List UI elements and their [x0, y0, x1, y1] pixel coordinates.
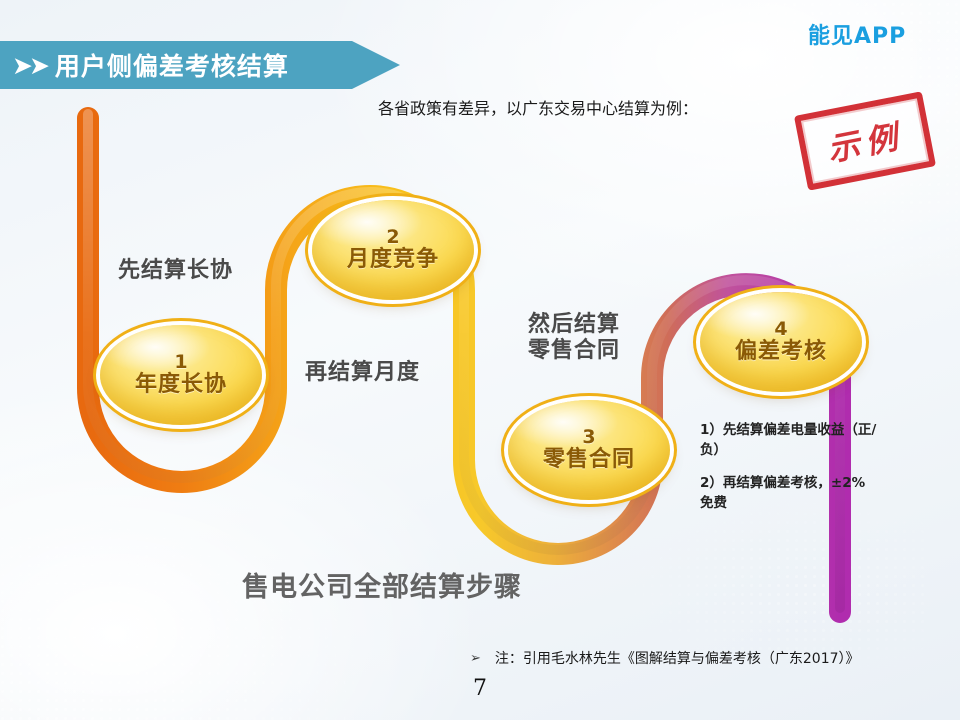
- step-number: 2: [386, 228, 399, 248]
- note-item: 1）先结算偏差电量收益（正/负）: [700, 420, 878, 461]
- step-bubble-3[interactable]: 3 零售合同: [508, 400, 670, 500]
- footer-note-text: 注：引用毛水林先生《图解结算与偏差考核（广东2017）》: [495, 648, 860, 668]
- step-number: 1: [174, 353, 187, 373]
- slide-canvas: 能见APP ➤➤ 用户侧偏差考核结算 各省政策有差异，以广东交易中心结算为例： …: [0, 0, 960, 720]
- step-bubble-1[interactable]: 1 年度长协: [100, 325, 262, 425]
- diagram-caption: 售电公司全部结算步骤: [242, 565, 522, 604]
- deviation-notes: 1）先结算偏差电量收益（正/负） 2）再结算偏差考核，±2%免费: [700, 420, 878, 525]
- footer-note: ➢ 注：引用毛水林先生《图解结算与偏差考核（广东2017）》: [470, 648, 860, 668]
- step-caption: 年度长协: [135, 373, 227, 398]
- step-caption: 月度竞争: [347, 248, 439, 273]
- arrow-bullet-icon: ➢: [470, 651, 481, 666]
- step-label-2: 再结算月度: [305, 360, 420, 386]
- step-label-1: 先结算长协: [118, 258, 233, 284]
- step-number: 4: [774, 320, 787, 340]
- note-item: 2）再结算偏差考核，±2%免费: [700, 473, 878, 514]
- page-number: 7: [0, 676, 960, 701]
- step-bubble-2[interactable]: 2 月度竞争: [312, 200, 474, 300]
- step-number: 3: [582, 428, 595, 448]
- step-caption: 零售合同: [543, 448, 635, 473]
- step-bubble-4[interactable]: 4 偏差考核: [700, 292, 862, 392]
- step-label-3: 然后结算 零售合同: [528, 312, 620, 365]
- step-caption: 偏差考核: [735, 340, 827, 365]
